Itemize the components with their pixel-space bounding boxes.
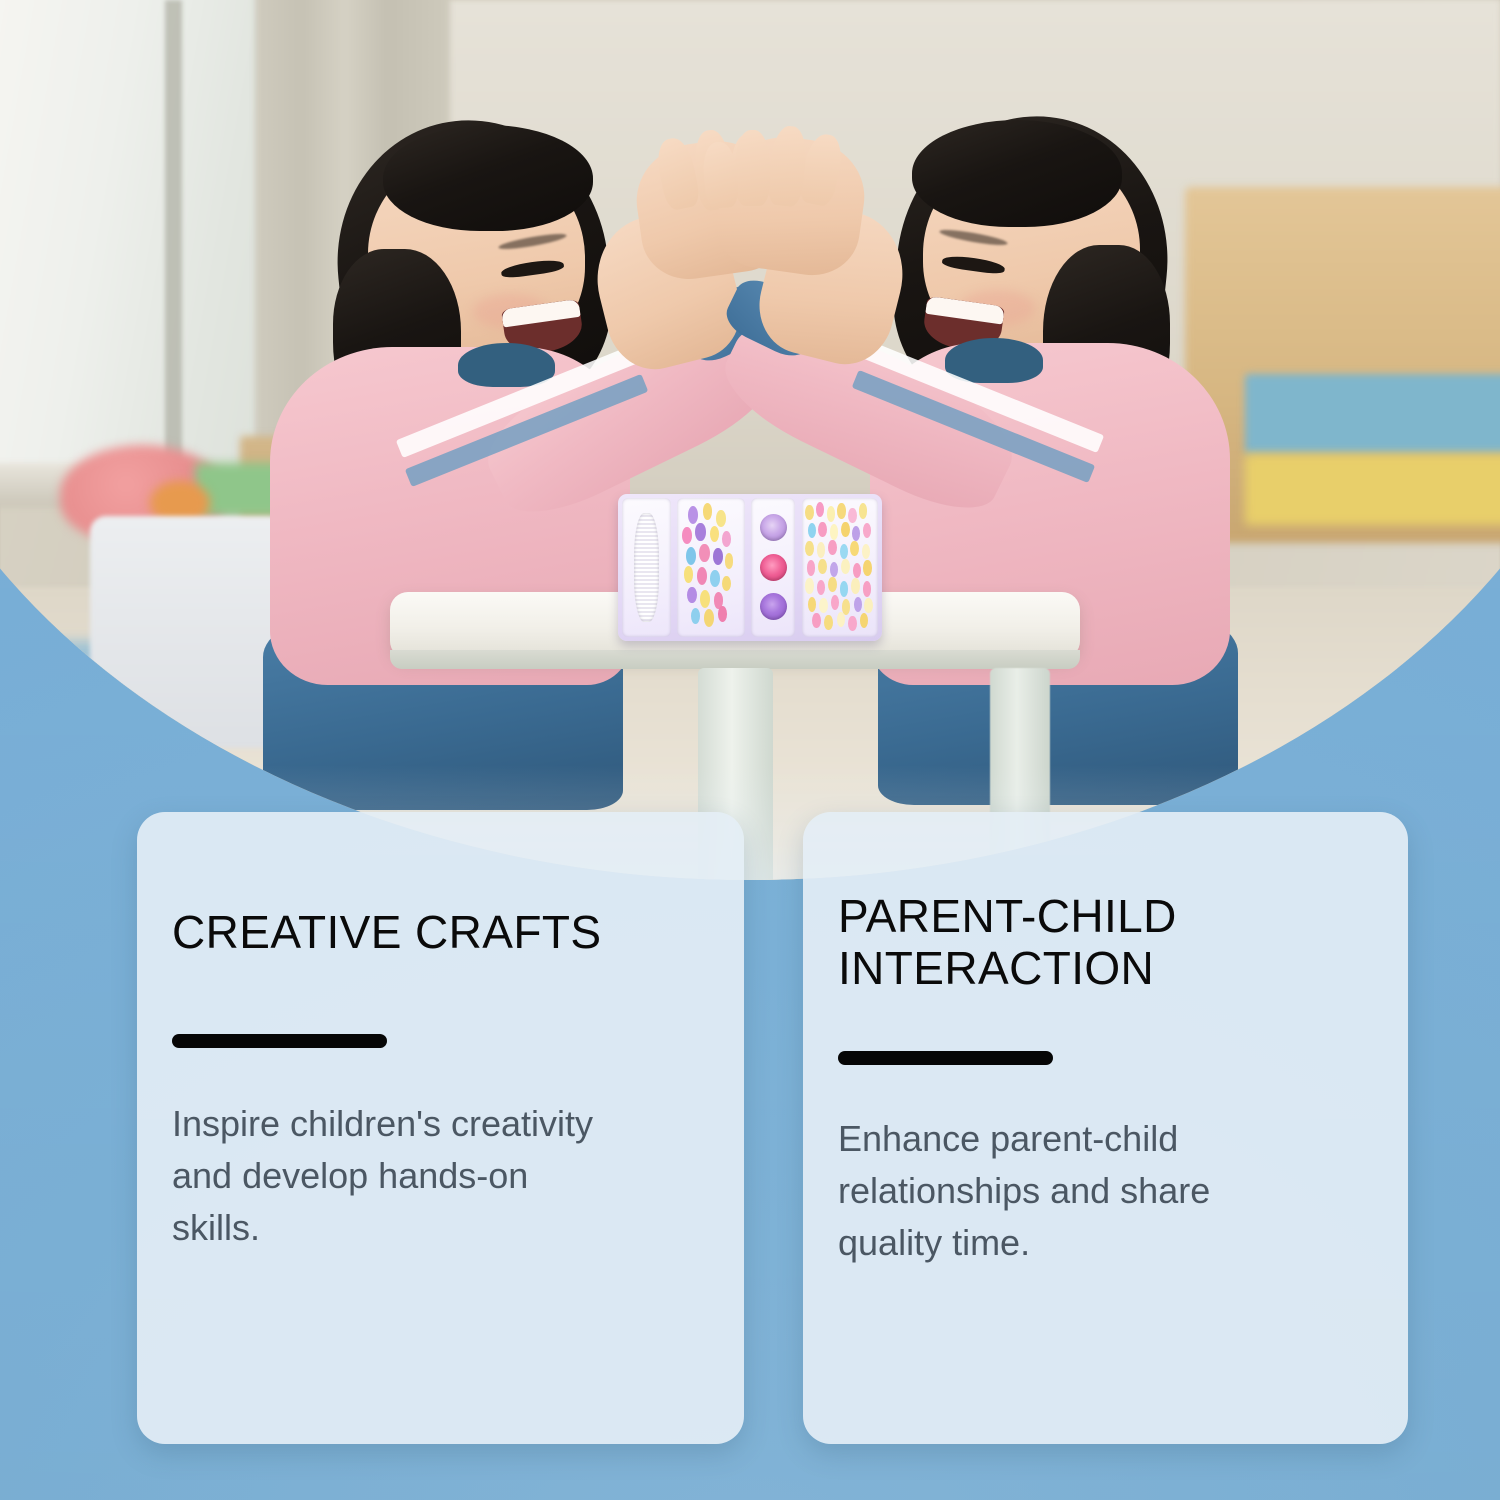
feature-cards: CREATIVE CRAFTS Inspire children's creat… <box>0 0 1500 1500</box>
card-divider <box>838 1051 1053 1065</box>
feature-card-creative-crafts[interactable]: CREATIVE CRAFTS Inspire children's creat… <box>137 812 744 1444</box>
card-body-parent-child-interaction: Enhance parent-child relationships and s… <box>838 1113 1288 1268</box>
feature-card-parent-child-interaction[interactable]: PARENT-CHILD INTERACTION Enhance parent-… <box>803 812 1408 1444</box>
card-title-parent-child-interaction: PARENT-CHILD INTERACTION <box>838 890 1352 995</box>
card-divider <box>172 1034 387 1048</box>
card-body-creative-crafts: Inspire children's creativity and develo… <box>172 1098 622 1253</box>
infographic-root: CREATIVE CRAFTS Inspire children's creat… <box>0 0 1500 1500</box>
card-title-creative-crafts: CREATIVE CRAFTS <box>172 906 688 958</box>
